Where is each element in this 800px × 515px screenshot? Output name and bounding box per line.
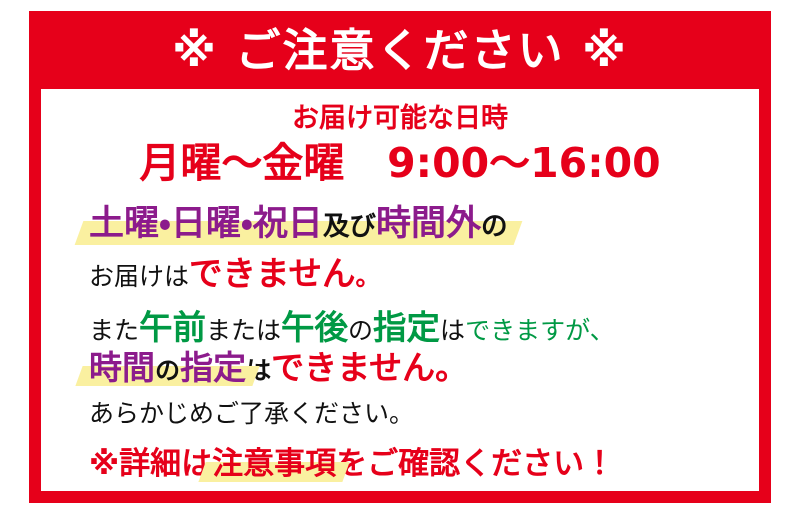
time-spec-denied-highlight: 時間の指定 [89,351,246,384]
banner-frame: お届け可能な日時 月曜〜金曜 9:00〜16:00 土曜・日曜・祝日及び時間外の… [29,89,771,503]
time-spec-particle-wa: は [440,316,465,345]
detail-notice-suffix: をご確認ください！ [336,446,615,482]
time-spec-particle-no: の [348,316,373,345]
header-title: ※ ご注意ください ※ [172,28,628,73]
asterisk-mark-left-icon: ※ [172,24,218,77]
delivery-time-range: 9:00〜16:00 [387,139,661,187]
time-spec-also: また [89,316,139,345]
time-spec-designation: 指定 [373,308,440,347]
time-spec-time-word: 時間 [89,348,155,387]
time-spec-afternoon: 午後 [281,308,348,347]
no-delivery-negative: できません [189,254,356,293]
no-delivery-subject: お届けは [89,262,189,291]
detail-asterisk-icon: ※ [89,446,119,482]
no-delivery-weekend-holidays: 土曜・日曜・祝日 [89,204,323,244]
no-delivery-days-line: 土曜・日曜・祝日及び時間外の [89,207,508,242]
time-spec-or: または [206,316,281,345]
asterisk-mark-right-icon: ※ [582,24,628,77]
detail-notice-keyword: 注意事項 [212,446,336,482]
no-delivery-conjunction: 及び [323,211,376,242]
no-delivery-days-highlight: 土曜・日曜・祝日及び時間外の [89,207,508,242]
detail-notice-highlight: 注意事項 [212,449,336,480]
banner-header: ※ ご注意ください ※ [29,11,771,89]
delivery-availability-subtitle: お届け可能な日時 [41,105,759,132]
delivery-days-range: 月曜〜金曜 [139,139,344,187]
time-spec-denied-designation: 指定 [180,348,246,387]
no-delivery-period: 。 [356,262,381,291]
detail-notice-line: ※詳細は注意事項をご確認ください！ [89,449,615,480]
no-delivery-particle: の [481,211,508,242]
time-spec-morning: 午前 [139,308,206,347]
time-spec-denied-period: 。 [435,348,468,387]
time-spec-allowed-line: また午前または午後の指定はできますが、 [89,311,615,345]
time-spec-denied-line: 時間の指定はできません。 [89,351,468,384]
header-title-text: ご注意ください [235,24,564,77]
no-delivery-after-hours: 時間外 [376,204,481,244]
banner-body: お届け可能な日時 月曜〜金曜 9:00〜16:00 土曜・日曜・祝日及び時間外の… [41,89,759,491]
delivery-hours: 月曜〜金曜 9:00〜16:00 [41,143,759,184]
acknowledgement-text: あらかじめご了承ください。 [89,401,414,426]
time-spec-denied-particle-no: の [155,356,180,385]
time-spec-possible: できますが、 [465,316,615,345]
notice-banner: ※ ご注意ください ※ お届け可能な日時 月曜〜金曜 9:00〜16:00 土曜… [29,11,771,503]
time-spec-denied-negative: できません [271,348,435,387]
no-delivery-statement-line: お届けはできません。 [89,257,381,291]
detail-notice-prefix: 詳細は [119,446,212,482]
